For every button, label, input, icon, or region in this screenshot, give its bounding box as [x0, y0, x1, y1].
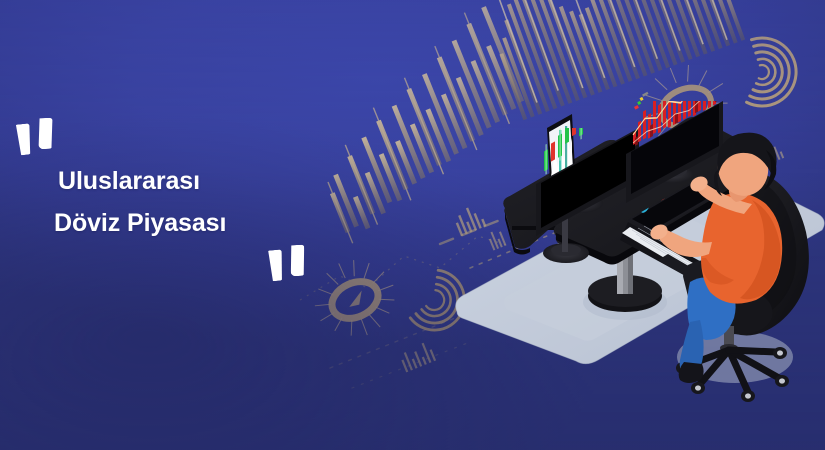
banner-root: Uluslararası Döviz Piyasası	[0, 0, 825, 450]
title-line-2: Döviz Piyasası	[54, 202, 226, 244]
title-line-1: Uluslararası	[58, 160, 226, 202]
page-title: Uluslararası Döviz Piyasası	[58, 160, 226, 244]
